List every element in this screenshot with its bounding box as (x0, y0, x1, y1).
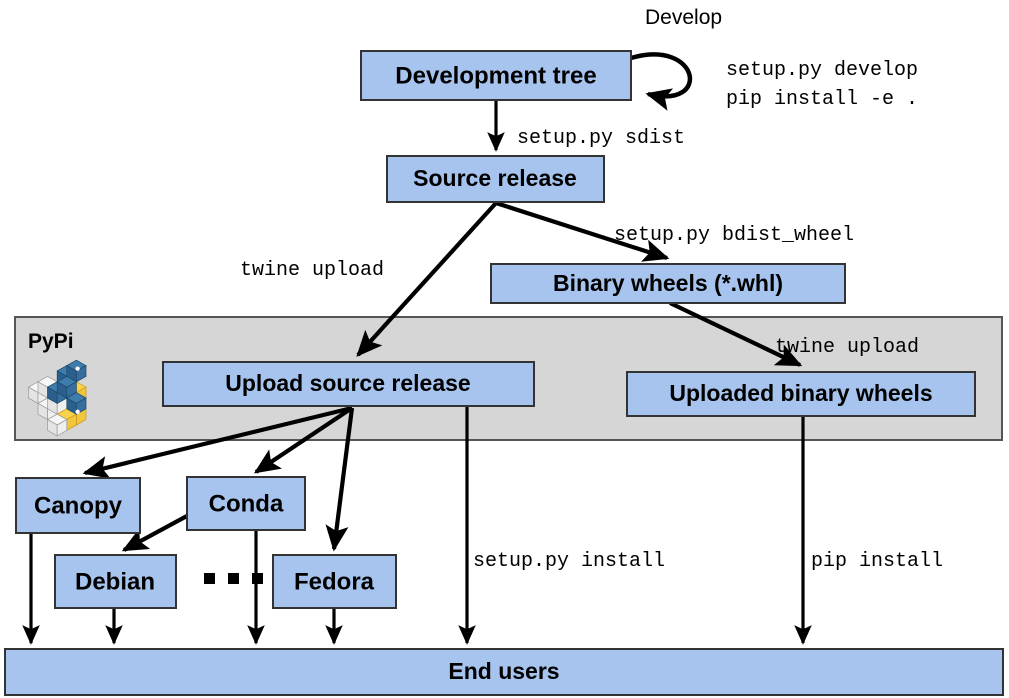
edge-label-pip-install-editable: pip install -e . (726, 88, 918, 111)
node-canopy-label: Canopy (34, 492, 123, 519)
edge-dev-to-dev-loop (631, 54, 690, 96)
edge-label-setup-develop: setup.py develop (726, 59, 918, 82)
edge-label-setup-sdist: setup.py sdist (517, 127, 685, 150)
node-fedora-label: Fedora (294, 568, 375, 595)
edge-label-setup-bdist-wheel: setup.py bdist_wheel (614, 224, 854, 247)
node-fedora[interactable]: Fedora (273, 555, 396, 608)
pypi-panel-label: PyPi (28, 330, 74, 353)
edge-label-twine-upload-binary: twine upload (775, 336, 919, 359)
edge-label-pip-install: pip install (811, 550, 943, 573)
node-src-release[interactable]: Source release (387, 156, 604, 202)
node-end-users-label: End users (448, 658, 559, 684)
node-dev-tree[interactable]: Development tree (361, 51, 631, 100)
node-canopy[interactable]: Canopy (16, 478, 140, 533)
node-upload-bin-label: Uploaded binary wheels (669, 380, 932, 406)
more-distros-ellipsis (204, 573, 263, 584)
node-end-users[interactable]: End users (5, 649, 1003, 695)
node-conda[interactable]: Conda (187, 477, 305, 530)
ellipsis-dot-1 (204, 573, 215, 584)
ellipsis-dot-3 (252, 573, 263, 584)
node-conda-label: Conda (209, 490, 284, 517)
node-debian[interactable]: Debian (55, 555, 176, 608)
edge-label-develop: Develop (645, 6, 722, 29)
ellipsis-dot-2 (228, 573, 239, 584)
edge-label-setup-install: setup.py install (473, 550, 665, 573)
node-upload-bin[interactable]: Uploaded binary wheels (627, 372, 975, 416)
node-src-release-label: Source release (413, 165, 577, 191)
node-upload-src[interactable]: Upload source release (163, 362, 534, 406)
edge-label-twine-upload-source: twine upload (240, 259, 384, 282)
node-bin-wheels[interactable]: Binary wheels (*.whl) (491, 264, 845, 303)
diagram-canvas: PyPi (0, 0, 1009, 698)
node-upload-src-label: Upload source release (225, 370, 470, 396)
packaging-flow-diagram: PyPi (0, 0, 1009, 698)
node-dev-tree-label: Development tree (395, 62, 596, 89)
node-bin-wheels-label: Binary wheels (*.whl) (553, 270, 783, 296)
node-debian-label: Debian (75, 568, 155, 595)
